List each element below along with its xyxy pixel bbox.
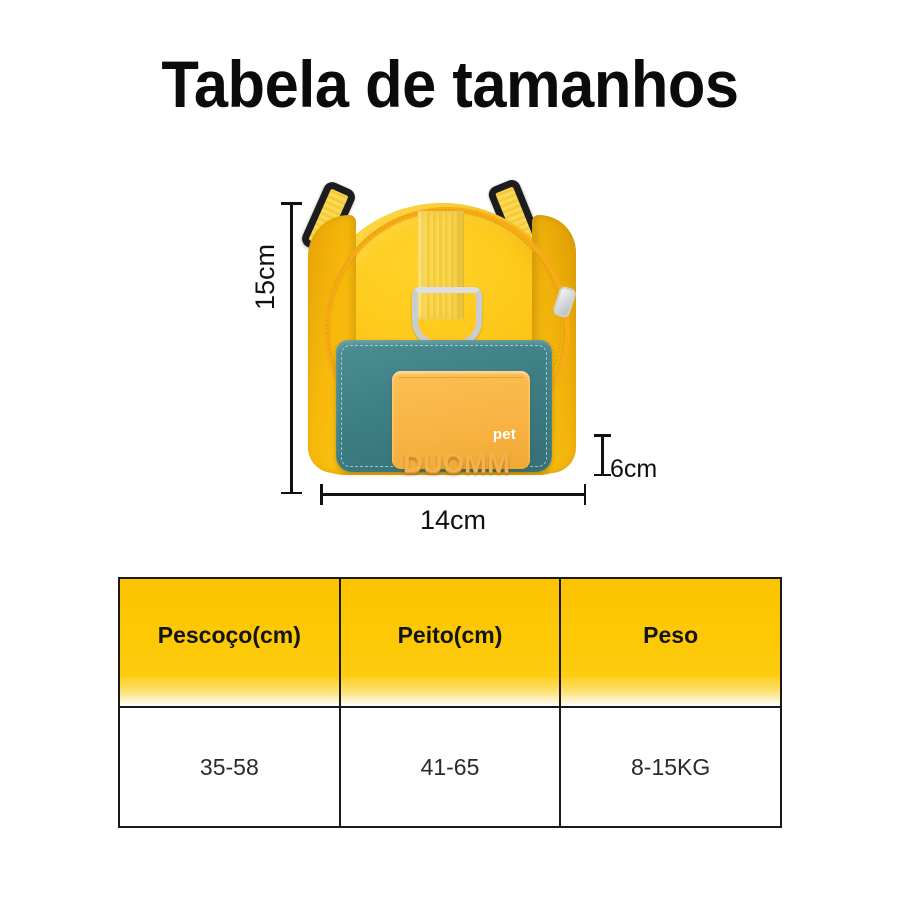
table-cell-weight: 8-15KG	[560, 707, 781, 827]
bag-brand-label-patch: pet DUOMM	[392, 371, 530, 469]
depth-dimension-line	[601, 434, 604, 476]
height-dimension-line	[290, 202, 293, 494]
table-cell-chest: 41-65	[340, 707, 561, 827]
table-header-chest: Peito(cm)	[340, 578, 561, 707]
d-ring-icon	[412, 287, 482, 347]
width-dimension-line	[320, 493, 586, 496]
table-header-neck: Pescoço(cm)	[119, 578, 340, 707]
table-header-weight: Peso	[560, 578, 781, 707]
size-chart-table: Pescoço(cm) Peito(cm) Peso 35-58 41-65 8…	[118, 577, 782, 828]
page-title: Tabela de tamanhos	[32, 48, 869, 120]
label-pet-text: pet	[493, 426, 516, 443]
label-brand-text: DUOMM	[403, 448, 510, 479]
table-header-row: Pescoço(cm) Peito(cm) Peso	[119, 578, 781, 707]
depth-dimension-label: 6cm	[610, 455, 657, 484]
height-dimension-label: 15cm	[250, 244, 281, 310]
table-cell-neck: 35-58	[119, 707, 340, 827]
width-dimension-label: 14cm	[320, 505, 586, 536]
table-row: 35-58 41-65 8-15KG	[119, 707, 781, 827]
